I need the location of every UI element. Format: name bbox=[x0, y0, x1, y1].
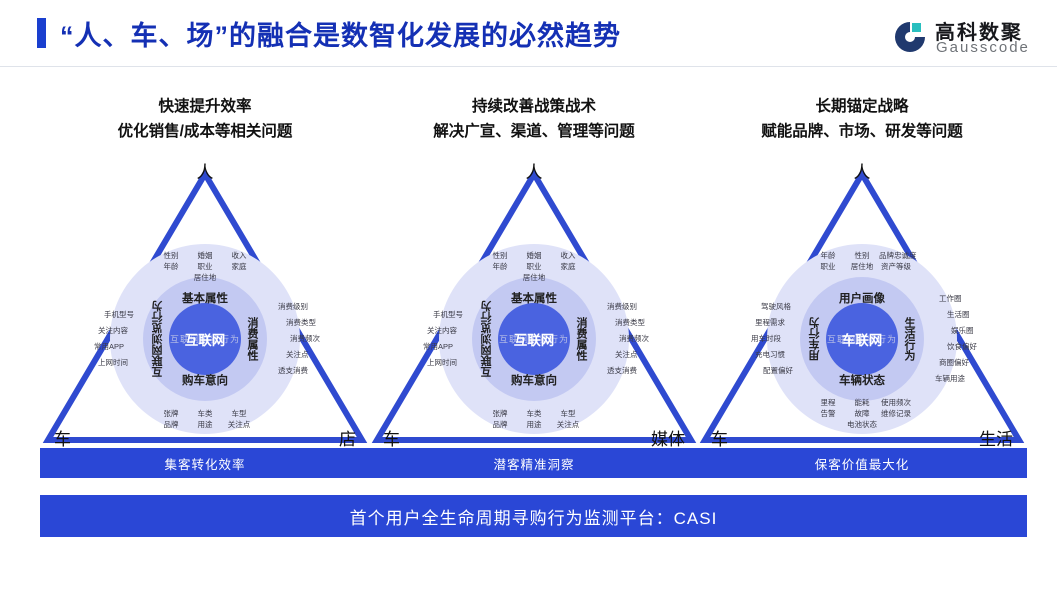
satellite-item: 年龄 bbox=[483, 261, 517, 272]
satellite-item: 年龄 bbox=[154, 261, 188, 272]
satellite-item: 性别 bbox=[845, 250, 879, 261]
column-2-outcome-bar: 潜客精准洞察 bbox=[369, 448, 699, 478]
satellite-item: 家庭 bbox=[551, 261, 585, 272]
satellite-item: 消费级别 bbox=[278, 299, 320, 315]
triangle-left-label: 车 bbox=[54, 425, 71, 450]
gausscode-logo-icon bbox=[893, 20, 927, 54]
satellite-item: 性别 bbox=[154, 250, 188, 261]
heading-line-1: 快速提升效率 bbox=[40, 94, 370, 119]
heading-line-2: 优化销售/成本等相关问题 bbox=[40, 119, 370, 144]
ring-left-label: 互联网浏览行为 bbox=[479, 301, 495, 378]
satellite-left-group: 手机型号 关注内容 常用APP 上网时间 bbox=[423, 307, 453, 371]
satellite-item: 品牌忠诚度 bbox=[879, 250, 913, 261]
satellite-item: 透支消费 bbox=[607, 363, 649, 379]
satellite-item: 用车时段 bbox=[751, 331, 781, 347]
column-1: 快速提升效率 优化销售/成本等相关问题 人 车 店 互联网浏览行为 互联网 基本… bbox=[40, 94, 370, 494]
satellite-item: 品牌 bbox=[483, 419, 517, 430]
satellite-item: 张牌 bbox=[483, 408, 517, 419]
satellite-item: 居住地 bbox=[845, 261, 879, 272]
satellite-item: 收入 bbox=[222, 250, 256, 261]
column-1-heading: 快速提升效率 优化销售/成本等相关问题 bbox=[40, 94, 370, 144]
heading-line-2: 解决广宣、渠道、管理等问题 bbox=[369, 119, 699, 144]
triangle-right-label: 生活 bbox=[979, 425, 1013, 450]
satellite-bottom-group: 里程能耗使用频次 告警故障维修记录 电池状态 bbox=[811, 397, 913, 430]
satellite-item: 故障 bbox=[845, 408, 879, 419]
satellite-right-group: 消费级别 消费类型 消费频次 关注点 透支消费 bbox=[282, 299, 320, 379]
column-1-triangle-diagram: 人 车 店 互联网浏览行为 互联网 基本属性 购车意向 互联网浏览行为 消费属性… bbox=[40, 160, 370, 448]
satellite-left-group: 手机型号 关注内容 常用APP 上网时间 bbox=[94, 307, 124, 371]
satellite-item: 车辆用途 bbox=[935, 371, 977, 387]
satellite-item: 娱乐圈 bbox=[951, 323, 977, 339]
triangle-right-label: 店 bbox=[339, 425, 356, 450]
ring-left-label: 用车行为 bbox=[807, 317, 823, 361]
satellite-item: 透支消费 bbox=[278, 363, 320, 379]
concentric-rings: 互联网浏览行为 互联网 基本属性 购车意向 互联网浏览行为 消费属性 性别婚姻收… bbox=[110, 244, 300, 434]
satellite-item: 充电习惯 bbox=[751, 347, 785, 363]
satellite-item: 职业 bbox=[811, 261, 845, 272]
concentric-rings: 互联网浏览行为 车联网 用户画像 车辆状态 用车行为 生活行为 年龄性别品牌忠诚… bbox=[767, 244, 957, 434]
satellite-item: 张牌 bbox=[154, 408, 188, 419]
satellite-item: 驾驶风格 bbox=[751, 299, 791, 315]
satellite-item: 上网时间 bbox=[94, 355, 128, 371]
satellite-item: 消费频次 bbox=[290, 331, 320, 347]
satellite-item: 职业 bbox=[188, 261, 222, 272]
satellite-bottom-group: 张牌车类车型 品牌用途关注点 bbox=[154, 408, 256, 430]
header-divider bbox=[0, 66, 1057, 67]
satellite-item: 婚姻 bbox=[188, 250, 222, 261]
footer-platform-bar: 首个用户全生命周期寻购行为监测平台：CASI bbox=[40, 495, 1027, 537]
heading-line-1: 持续改善战策战术 bbox=[369, 94, 699, 119]
title-accent-bar bbox=[37, 18, 46, 48]
satellite-left-group: 驾驶风格 里程需求 用车时段 充电习惯 配置偏好 bbox=[751, 299, 781, 379]
satellite-item: 消费类型 bbox=[286, 315, 320, 331]
satellite-item: 常用APP bbox=[423, 339, 453, 355]
satellite-item: 手机型号 bbox=[94, 307, 134, 323]
satellite-item: 资产等级 bbox=[879, 261, 913, 272]
ring-right-label: 生活行为 bbox=[901, 317, 917, 361]
column-1-outcome-bar: 集客转化效率 bbox=[40, 448, 370, 478]
satellite-item: 品牌 bbox=[154, 419, 188, 430]
satellite-item: 年龄 bbox=[811, 250, 845, 261]
satellite-item: 里程 bbox=[811, 397, 845, 408]
satellite-item: 收入 bbox=[551, 250, 585, 261]
brand-logo: 高科数聚 Gausscode bbox=[893, 14, 1043, 60]
satellite-item: 手机型号 bbox=[423, 307, 463, 323]
column-3: 长期锚定战略 赋能品牌、市场、研发等问题 人 车 生活 互联网浏览行为 车联网 … bbox=[697, 94, 1027, 494]
satellite-item: 车型 bbox=[551, 408, 585, 419]
ring-left-label: 互联网浏览行为 bbox=[150, 301, 166, 378]
satellite-item: 商圈偏好 bbox=[939, 355, 977, 371]
ring-bottom-label: 购车意向 bbox=[511, 372, 557, 388]
satellite-item: 用途 bbox=[517, 419, 551, 430]
ring-core-label: 互联网 bbox=[514, 329, 555, 349]
satellite-item: 使用频次 bbox=[879, 397, 913, 408]
ring-bottom-label: 车辆状态 bbox=[839, 372, 885, 388]
ring-core-label: 车联网 bbox=[842, 329, 883, 349]
satellite-top-group: 性别婚姻收入 年龄职业家庭 居住地 bbox=[154, 250, 256, 283]
heading-line-1: 长期锚定战略 bbox=[697, 94, 1027, 119]
satellite-item: 电池状态 bbox=[845, 419, 879, 430]
triangle-apex-label: 人 bbox=[697, 158, 1027, 183]
satellite-item: 职业 bbox=[517, 261, 551, 272]
concentric-rings: 互联网浏览行为 互联网 基本属性 购车意向 互联网浏览行为 消费属性 性别婚姻收… bbox=[439, 244, 629, 434]
satellite-right-group: 消费级别 消费类型 消费频次 关注点 透支消费 bbox=[611, 299, 649, 379]
satellite-item: 消费类型 bbox=[615, 315, 649, 331]
triangle-left-label: 车 bbox=[711, 425, 728, 450]
column-2-triangle-diagram: 人 车 媒体 互联网浏览行为 互联网 基本属性 购车意向 互联网浏览行为 消费属… bbox=[369, 160, 699, 448]
ring-core-label: 互联网 bbox=[185, 329, 226, 349]
page-header: “人、车、场”的融合是数智化发展的必然趋势 高科数聚 Gausscode bbox=[0, 0, 1057, 66]
satellite-item: 性别 bbox=[483, 250, 517, 261]
satellite-item: 车型 bbox=[222, 408, 256, 419]
satellite-item: 配置偏好 bbox=[751, 363, 793, 379]
logo-text-en: Gausscode bbox=[936, 39, 1030, 56]
satellite-item: 家庭 bbox=[222, 261, 256, 272]
ring-top-label: 基本属性 bbox=[511, 290, 557, 306]
satellite-top-group: 性别婚姻收入 年龄职业家庭 居住地 bbox=[483, 250, 585, 283]
heading-line-2: 赋能品牌、市场、研发等问题 bbox=[697, 119, 1027, 144]
satellite-item: 工作圈 bbox=[939, 291, 977, 307]
triangle-apex-label: 人 bbox=[369, 158, 699, 183]
ring-top-label: 基本属性 bbox=[182, 290, 228, 306]
satellite-item: 关注点 bbox=[286, 347, 320, 363]
satellite-bottom-group: 张牌车类车型 品牌用途关注点 bbox=[483, 408, 585, 430]
column-2-heading: 持续改善战策战术 解决广宣、渠道、管理等问题 bbox=[369, 94, 699, 144]
triangle-left-label: 车 bbox=[383, 425, 400, 450]
satellite-item: 居住地 bbox=[188, 272, 222, 283]
satellite-item: 能耗 bbox=[845, 397, 879, 408]
satellite-item: 车类 bbox=[517, 408, 551, 419]
ring-top-label: 用户画像 bbox=[839, 290, 885, 306]
ring-bottom-label: 购车意向 bbox=[182, 372, 228, 388]
satellite-item: 关注内容 bbox=[423, 323, 457, 339]
satellite-item: 用途 bbox=[188, 419, 222, 430]
satellite-item: 消费频次 bbox=[619, 331, 649, 347]
satellite-item: 里程需求 bbox=[751, 315, 785, 331]
ring-right-label: 消费属性 bbox=[573, 317, 589, 361]
satellite-item: 车类 bbox=[188, 408, 222, 419]
satellite-item: 告警 bbox=[811, 408, 845, 419]
page-title: “人、车、场”的融合是数智化发展的必然趋势 bbox=[60, 14, 621, 53]
satellite-item: 居住地 bbox=[517, 272, 551, 283]
satellite-item: 上网时间 bbox=[423, 355, 457, 371]
ring-right-label: 消费属性 bbox=[244, 317, 260, 361]
column-2: 持续改善战策战术 解决广宣、渠道、管理等问题 人 车 媒体 互联网浏览行为 互联… bbox=[369, 94, 699, 494]
column-3-heading: 长期锚定战略 赋能品牌、市场、研发等问题 bbox=[697, 94, 1027, 144]
triangle-right-label: 媒体 bbox=[651, 425, 685, 450]
column-3-outcome-bar: 保客价值最大化 bbox=[697, 448, 1027, 478]
satellite-item: 饮食偏好 bbox=[947, 339, 977, 355]
satellite-item: 消费级别 bbox=[607, 299, 649, 315]
satellite-item: 维修记录 bbox=[879, 408, 913, 419]
satellite-item: 常用APP bbox=[94, 339, 124, 355]
satellite-item: 关注点 bbox=[615, 347, 649, 363]
triangle-apex-label: 人 bbox=[40, 158, 370, 183]
satellite-top-group: 年龄性别品牌忠诚度 职业居住地资产等级 bbox=[811, 250, 913, 272]
column-3-triangle-diagram: 人 车 生活 互联网浏览行为 车联网 用户画像 车辆状态 用车行为 生活行为 年… bbox=[697, 160, 1027, 448]
satellite-item: 关注点 bbox=[222, 419, 256, 430]
satellite-item: 婚姻 bbox=[517, 250, 551, 261]
satellite-item: 生活圈 bbox=[947, 307, 977, 323]
satellite-item: 关注点 bbox=[551, 419, 585, 430]
satellite-right-group: 工作圈 生活圈 娱乐圈 饮食偏好 商圈偏好 车辆用途 bbox=[943, 291, 977, 387]
satellite-item: 关注内容 bbox=[94, 323, 128, 339]
